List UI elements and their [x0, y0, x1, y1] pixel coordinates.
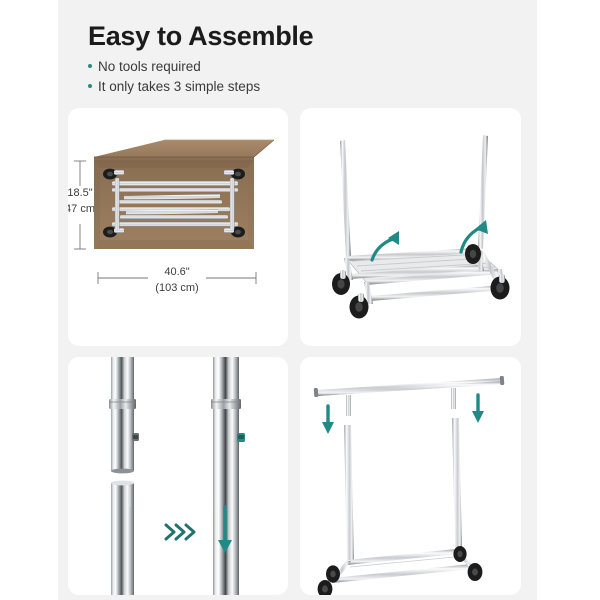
header: Easy to Assemble No tools required It on… [88, 22, 518, 99]
caster-wheel-icon [326, 565, 340, 582]
width-dimension-imperial: 40.6" [164, 266, 189, 278]
panel-assembled-rack [300, 357, 521, 595]
height-dimension-imperial: 18.5" [68, 187, 93, 199]
bullet-dot-icon [88, 84, 92, 88]
panel-tube-extension [68, 357, 288, 595]
chevron-arrows-icon [166, 525, 194, 539]
feature-bullet-2: It only takes 3 simple steps [88, 79, 518, 95]
caster-wheel-icon [465, 244, 481, 264]
feature-bullet-1-label: No tools required [98, 59, 201, 75]
caster-wheel-icon [468, 563, 483, 581]
caster-wheel-icon [350, 293, 369, 319]
tube-extension-illustration [68, 357, 288, 595]
panel-base-frame [300, 108, 521, 346]
feature-bullet-2-label: It only takes 3 simple steps [98, 79, 260, 95]
base-frame-illustration [300, 108, 521, 346]
assembled-rack-illustration [300, 357, 521, 595]
feature-bullet-1: No tools required [88, 59, 518, 75]
cardboard-box-icon [68, 108, 274, 249]
caster-wheel-icon [318, 580, 333, 595]
page-title: Easy to Assemble [88, 22, 518, 52]
packaging-box-illustration: 18.5" (47 cm) [68, 108, 288, 346]
infographic-root: Easy to Assemble No tools required It on… [0, 0, 600, 600]
garment-rack-frame-icon [318, 418, 483, 595]
panel-packaging-box: 18.5" (47 cm) [68, 108, 288, 346]
bullet-dot-icon [88, 64, 92, 68]
chrome-tube-joined-icon [211, 357, 245, 595]
insert-down-arrow-icon [472, 395, 484, 423]
top-hanging-rail-icon [314, 376, 505, 416]
caster-wheel-icon [453, 546, 466, 562]
insert-down-arrow-icon [322, 406, 334, 434]
width-dimension-metric: (103 cm) [155, 282, 198, 294]
chrome-tube-separated-icon [109, 357, 139, 595]
